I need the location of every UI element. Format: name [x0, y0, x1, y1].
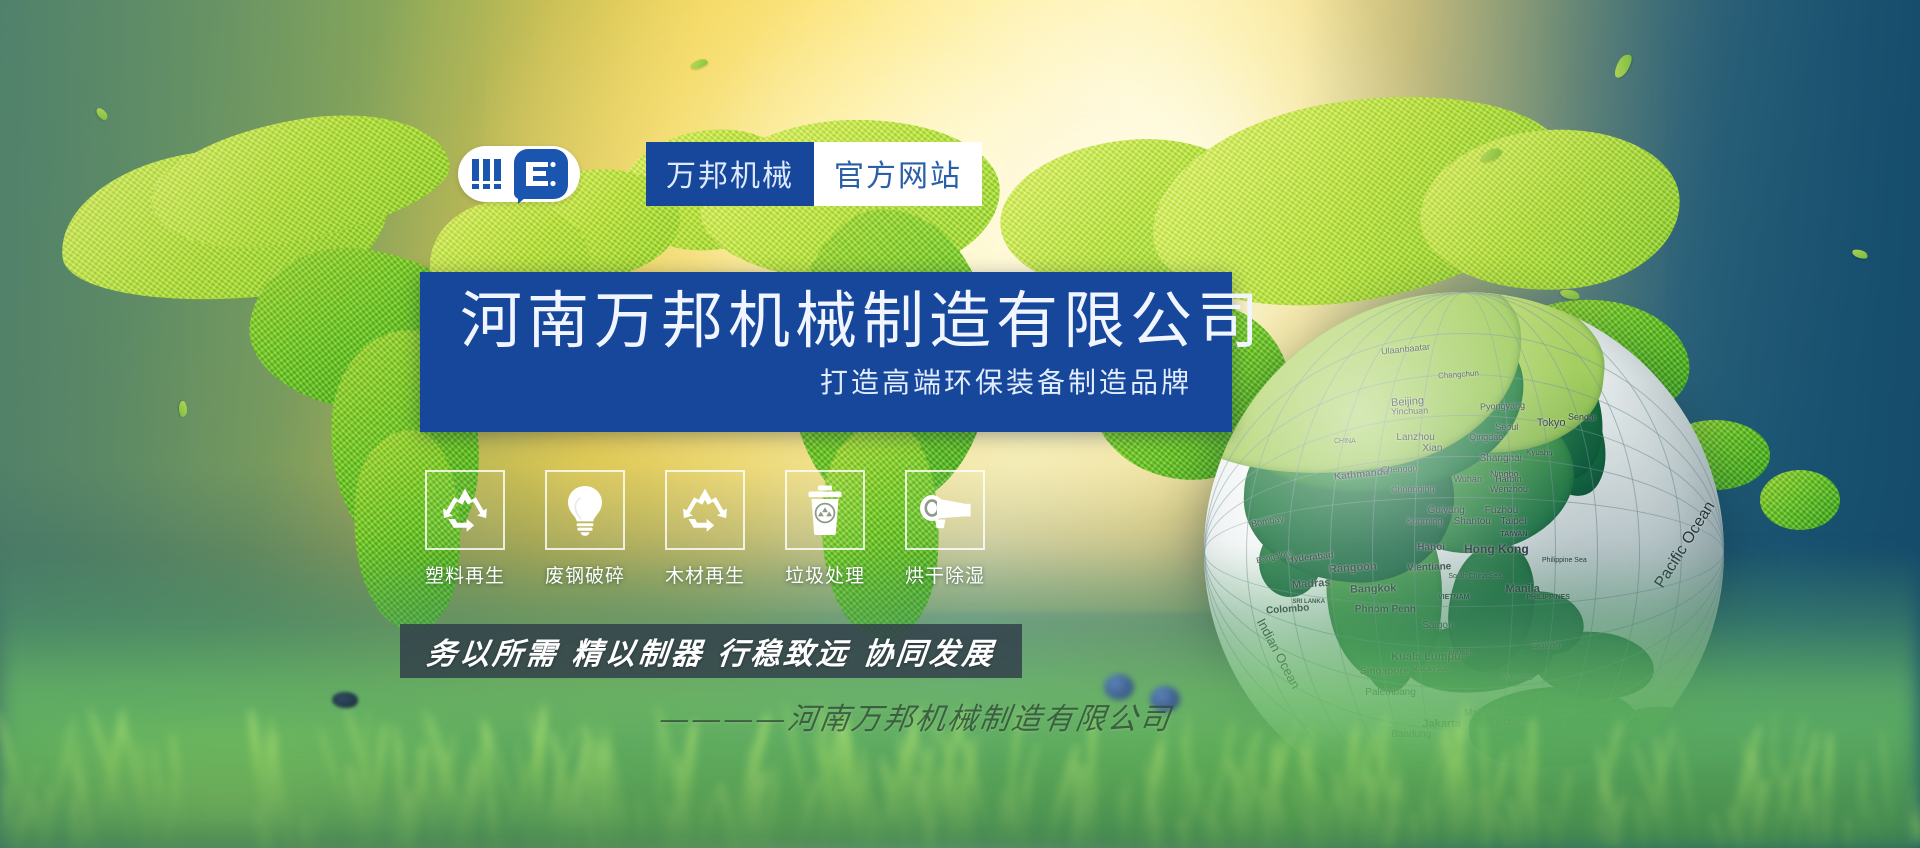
brand-header: 万邦机械 官方网站 [458, 142, 982, 206]
company-title-panel: 河南万邦机械制造有限公司 打造高端环保装备制造品牌 [420, 272, 1232, 432]
feature-item-1[interactable]: 塑料再生 [418, 470, 512, 588]
feature-label: 木材再生 [658, 561, 752, 588]
feature-label: 废钢破碎 [538, 561, 632, 588]
feature-label: 烘干除湿 [898, 561, 992, 588]
brand-tab-company[interactable]: 万邦机械 [646, 142, 814, 206]
feature-item-2[interactable]: 废钢破碎 [538, 470, 632, 588]
page-title: 河南万邦机械制造有限公司 [460, 286, 1192, 355]
feature-list: 塑料再生 废钢破碎 木材再生 垃圾处理 [418, 470, 992, 588]
hero-banner: UlaanbaatarBeijingChangchunPyongyangSeou… [0, 0, 1920, 848]
feature-label: 垃圾处理 [778, 561, 872, 588]
slogan-text: 务以所需 精以制器 行稳致远 协同发展 [425, 629, 998, 673]
recycle-icon [425, 470, 505, 550]
logo-b-icon [525, 160, 557, 188]
trash-bin-icon [785, 470, 865, 550]
recycle-icon [440, 485, 490, 535]
brand-tab-official-site[interactable]: 官方网站 [814, 142, 982, 206]
brand-tabs: 万邦机械 官方网站 [646, 142, 982, 206]
logo-b-bubble-icon [514, 149, 568, 199]
slogan-bar: 务以所需 精以制器 行稳致远 协同发展 [400, 624, 1022, 678]
feature-item-4[interactable]: 垃圾处理 [778, 470, 872, 588]
feature-label: 塑料再生 [418, 561, 512, 588]
feature-item-5[interactable]: 烘干除湿 [898, 470, 992, 588]
page-tagline: 打造高端环保装备制造品牌 [460, 361, 1192, 401]
lightbulb-icon [545, 470, 625, 550]
recycle-icon [680, 485, 730, 535]
recycle-icon [665, 470, 745, 550]
logo-w-icon [470, 157, 510, 191]
feature-item-3[interactable]: 木材再生 [658, 470, 752, 588]
blower-dryer-icon [917, 489, 973, 531]
blower-dryer-icon [905, 470, 985, 550]
wb-logo-badge[interactable] [458, 146, 580, 202]
trash-bin-icon [803, 484, 847, 536]
lightbulb-icon [561, 484, 609, 536]
slogan-signature: ————河南万邦机械制造有限公司 [657, 694, 1175, 738]
